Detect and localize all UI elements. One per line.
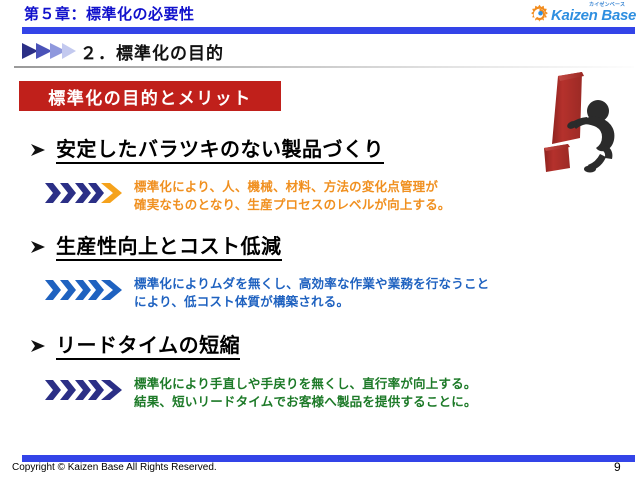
arrow-bullet-icon [30, 339, 46, 353]
block-heading-text: 生産性向上とコスト低減 [56, 237, 282, 261]
block-body-text: 標準化により手直しや手戻りを無くし、直行率が向上する。 結果、短いリードタイムで… [134, 375, 477, 411]
chevron-row-icon [44, 378, 126, 402]
block-body-1: 標準化により、人、機械、材料、方法の変化点管理が 確実なものとなり、生産プロセス… [44, 178, 451, 214]
slide: 第５章：標準化の必要性 カイゼンベース Kaizen Base ２．標準化の目的… [0, 0, 640, 480]
exclamation-mark-with-figure-icon [524, 62, 636, 174]
highlight-title-box: 標準化の目的とメリット [18, 80, 282, 112]
copyright-text: Copyright © Kaizen Base All Rights Reser… [12, 462, 217, 473]
block-body-2: 標準化によりムダを無くし、高効率な作業や業務を行なうこと により、低コスト体質が… [44, 275, 489, 311]
page-number: 9 [614, 460, 634, 474]
block-body-text: 標準化により、人、機械、材料、方法の変化点管理が 確実なものとなり、生産プロセス… [134, 178, 451, 214]
block-heading-2: 生産性向上とコスト低減 [30, 237, 282, 261]
block-body-text: 標準化によりムダを無くし、高効率な作業や業務を行なうこと により、低コスト体質が… [134, 275, 489, 311]
block-heading-text: リードタイムの短縮 [56, 336, 240, 360]
logo-wordmark: Kaizen Base [551, 7, 636, 24]
chapter-title: 第５章：標準化の必要性 [24, 3, 195, 24]
header-bar [22, 27, 635, 34]
arrow-bullet-icon [30, 143, 46, 157]
block-heading-1: 安定したバラツキのない製品づくり [30, 140, 384, 164]
block-heading-3: リードタイムの短縮 [30, 336, 240, 360]
chevron-row-icon [44, 278, 126, 302]
gear-icon [529, 4, 550, 25]
block-heading-text: 安定したバラツキのない製品づくり [56, 140, 384, 164]
section-title: ２．標準化の目的 [80, 39, 224, 64]
triple-triangle-icon [22, 42, 76, 60]
arrow-bullet-icon [30, 240, 46, 254]
kaizen-base-logo: カイゼンベース Kaizen Base [523, 1, 635, 27]
highlight-title-text: 標準化の目的とメリット [48, 84, 252, 109]
footer-bar [22, 455, 635, 462]
chevron-row-icon [44, 181, 126, 205]
block-body-3: 標準化により手直しや手戻りを無くし、直行率が向上する。 結果、短いリードタイムで… [44, 375, 477, 411]
